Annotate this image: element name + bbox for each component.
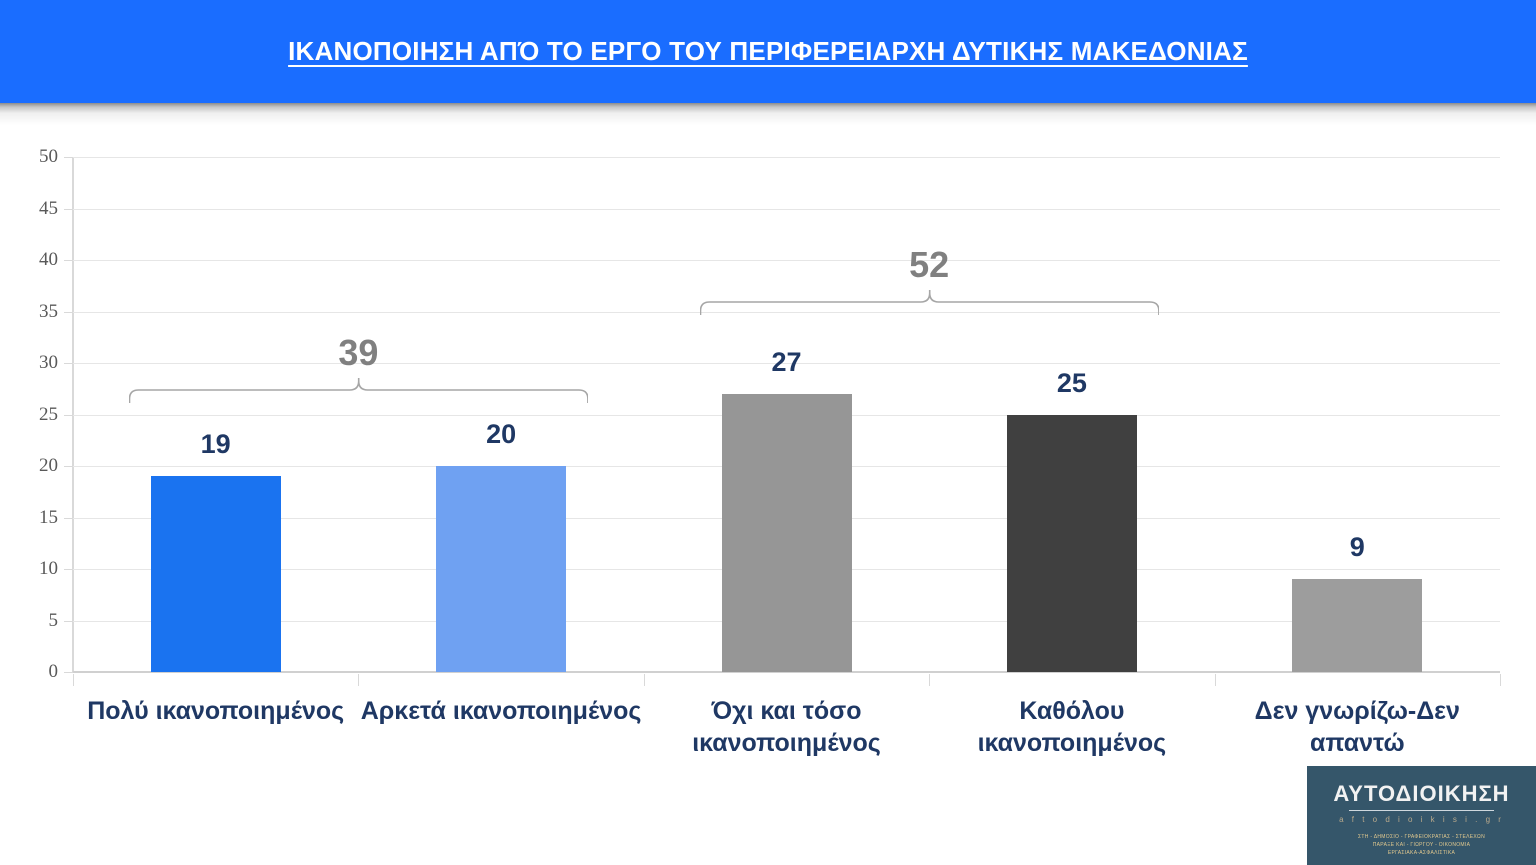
logo-tagline-line-3: ΕΡΓΑΣΙΑΚΑ-ΑΣΦΑΛΙΣΤΙΚΑ bbox=[1307, 850, 1536, 857]
y-tick-mark-15 bbox=[64, 518, 73, 519]
y-tick-mark-10 bbox=[64, 569, 73, 570]
x-tick-mark-1 bbox=[358, 674, 359, 686]
category-label-0-line-0: Πολύ ικανοποιημένος bbox=[65, 695, 366, 727]
category-label-3: Καθόλουικανοποιημένος bbox=[921, 695, 1222, 759]
category-label-1: Αρκετά ικανοποιημένος bbox=[350, 695, 651, 727]
aftodioikisi-logo: ΑΥΤΟΔΙΟΙΚΗΣΗ a f t o d i o i k i s i . g… bbox=[1307, 766, 1536, 865]
brace-value-52: 52 bbox=[869, 247, 989, 283]
y-tick-mark-20 bbox=[64, 466, 73, 467]
bar-3[interactable] bbox=[1007, 415, 1137, 673]
bar-1[interactable] bbox=[436, 466, 566, 672]
y-tick-label-5: 5 bbox=[0, 611, 58, 630]
logo-tagline-line-2: ΠΑΡΑΞΕ ΚΑΙ - ΓΙΩΡΓΟΥ - ΟΙΚΟΝΟΜΙΑ bbox=[1307, 842, 1536, 849]
category-label-4-line-0: Δεν γνωρίζω-Δεν bbox=[1207, 695, 1508, 727]
y-tick-label-40: 40 bbox=[0, 250, 58, 269]
y-tick-label-50: 50 bbox=[0, 147, 58, 166]
category-label-2: Όχι και τόσοικανοποιημένος bbox=[636, 695, 937, 759]
category-label-2-line-0: Όχι και τόσο bbox=[636, 695, 937, 727]
logo-tagline-line-1: ΣΤΗ - ΔΗΜΟΣΙΟ - ΓΡΑΦΕΙΟΚΡΑΤΙΑΣ - ΣΤΕΛΕΧΩ… bbox=[1307, 834, 1536, 841]
x-tick-mark-3 bbox=[929, 674, 930, 686]
category-label-3-line-1: ικανοποιημένος bbox=[921, 727, 1222, 759]
brace-value-39: 39 bbox=[298, 335, 418, 371]
y-tick-mark-5 bbox=[64, 621, 73, 622]
bar-0[interactable] bbox=[151, 476, 281, 672]
category-label-2-line-1: ικανοποιημένος bbox=[636, 727, 937, 759]
y-tick-label-45: 45 bbox=[0, 199, 58, 218]
category-label-3-line-0: Καθόλου bbox=[921, 695, 1222, 727]
bar-2[interactable] bbox=[722, 394, 852, 672]
y-tick-label-25: 25 bbox=[0, 405, 58, 424]
bar-chart: 05101520253035404550 192027259 Πολύ ικαν… bbox=[0, 103, 1536, 865]
x-tick-mark-5 bbox=[1500, 674, 1501, 686]
y-tick-label-30: 30 bbox=[0, 353, 58, 372]
y-tick-label-0: 0 bbox=[0, 662, 58, 681]
y-tick-label-15: 15 bbox=[0, 508, 58, 527]
title-banner: ΙΚΑΝΟΠΟΙΗΣΗ ΑΠΌ ΤΟ ΕΡΓΟ ΤΟΥ ΠΕΡΙΦΕΡΕΙΑΡΧ… bbox=[0, 0, 1536, 103]
logo-wordmark: ΑΥΤΟΔΙΟΙΚΗΣΗ bbox=[1307, 782, 1536, 806]
brace-39 bbox=[129, 376, 588, 404]
bar-value-label-1: 20 bbox=[441, 421, 561, 448]
x-tick-mark-2 bbox=[644, 674, 645, 686]
plot-area bbox=[73, 157, 1500, 672]
y-tick-mark-0 bbox=[64, 672, 73, 673]
logo-domain-text: a f t o d i o i k i s i . g r bbox=[1307, 814, 1536, 825]
y-tick-mark-40 bbox=[64, 260, 73, 261]
x-tick-mark-4 bbox=[1215, 674, 1216, 686]
page-title: ΙΚΑΝΟΠΟΙΗΣΗ ΑΠΌ ΤΟ ΕΡΓΟ ΤΟΥ ΠΕΡΙΦΕΡΕΙΑΡΧ… bbox=[0, 36, 1536, 67]
y-tick-label-10: 10 bbox=[0, 559, 58, 578]
y-tick-mark-45 bbox=[64, 209, 73, 210]
brace-52 bbox=[700, 288, 1159, 316]
y-tick-mark-25 bbox=[64, 415, 73, 416]
y-tick-mark-30 bbox=[64, 363, 73, 364]
category-label-0: Πολύ ικανοποιημένος bbox=[65, 695, 366, 727]
bar-value-label-4: 9 bbox=[1297, 534, 1417, 561]
bar-value-label-2: 27 bbox=[727, 349, 847, 376]
x-tick-mark-0 bbox=[73, 674, 74, 686]
category-label-1-line-0: Αρκετά ικανοποιημένος bbox=[350, 695, 651, 727]
y-tick-mark-50 bbox=[64, 157, 73, 158]
y-tick-mark-35 bbox=[64, 312, 73, 313]
y-tick-label-20: 20 bbox=[0, 456, 58, 475]
y-tick-label-35: 35 bbox=[0, 302, 58, 321]
logo-divider bbox=[1349, 810, 1494, 811]
category-label-4: Δεν γνωρίζω-Δεναπαντώ bbox=[1207, 695, 1508, 759]
bar-value-label-0: 19 bbox=[156, 431, 276, 458]
bar-value-label-3: 25 bbox=[1012, 370, 1132, 397]
category-label-4-line-1: απαντώ bbox=[1207, 727, 1508, 759]
bar-4[interactable] bbox=[1292, 579, 1422, 672]
